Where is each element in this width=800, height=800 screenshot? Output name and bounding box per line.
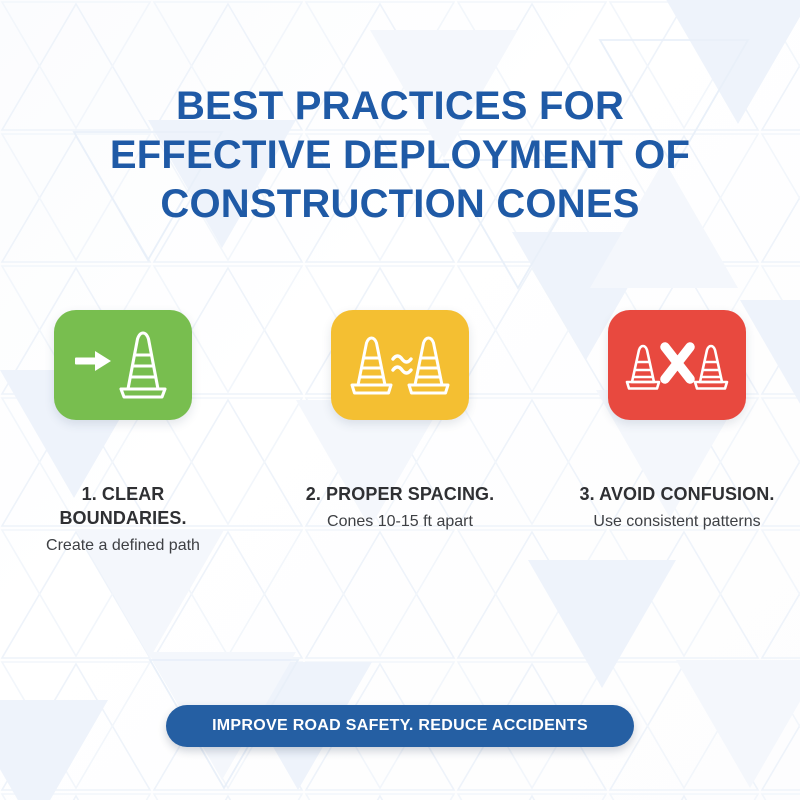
title-line-1: BEST PRACTICES FOR (0, 82, 800, 131)
two-cones-spacing-icon (348, 329, 452, 401)
wave-spacing-icon (393, 356, 411, 373)
icon-tile-proper-spacing (331, 310, 469, 420)
practice-card-3: 3. AVOID CONFUSION. Use consistent patte… (575, 310, 780, 556)
traffic-cone-left-icon (627, 346, 659, 389)
caption-subtitle-1: Create a defined path (21, 535, 226, 556)
poster-title: BEST PRACTICES FOR EFFECTIVE DEPLOYMENT … (0, 82, 800, 229)
call-to-action-banner[interactable]: IMPROVE ROAD SAFETY. REDUCE ACCIDENTS (166, 705, 634, 747)
bottom-banner-wrap: IMPROVE ROAD SAFETY. REDUCE ACCIDENTS (0, 705, 800, 747)
traffic-cone-right-icon (409, 338, 448, 393)
caption-avoid-confusion: 3. AVOID CONFUSION. Use consistent patte… (580, 482, 775, 532)
title-line-2: EFFECTIVE DEPLOYMENT OF (0, 131, 800, 180)
caption-subtitle-2: Cones 10-15 ft apart (306, 511, 495, 532)
arrow-right-icon (75, 351, 111, 371)
traffic-cone-right-icon (695, 346, 727, 389)
icon-tile-clear-boundaries (54, 310, 192, 420)
traffic-cone-left-icon (352, 338, 391, 393)
caption-subtitle-3: Use consistent patterns (580, 511, 775, 532)
cones-x-cross-icon (625, 329, 729, 401)
x-cross-icon (665, 347, 690, 379)
caption-title-1: 1. CLEAR BOUNDARIES. (21, 482, 226, 530)
caption-clear-boundaries: 1. CLEAR BOUNDARIES. Create a defined pa… (21, 482, 226, 556)
caption-proper-spacing: 2. PROPER SPACING. Cones 10-15 ft apart (306, 482, 495, 532)
practice-card-2: 2. PROPER SPACING. Cones 10-15 ft apart (298, 310, 503, 556)
caption-title-3: 3. AVOID CONFUSION. (580, 482, 775, 506)
title-line-3: CONSTRUCTION CONES (0, 180, 800, 229)
practice-cards-row: 1. CLEAR BOUNDARIES. Create a defined pa… (0, 310, 800, 556)
icon-tile-avoid-confusion (608, 310, 746, 420)
traffic-cone-icon (121, 333, 165, 397)
arrow-to-cone-icon (71, 329, 175, 401)
practice-card-1: 1. CLEAR BOUNDARIES. Create a defined pa… (21, 310, 226, 556)
caption-title-2: 2. PROPER SPACING. (306, 482, 495, 506)
infographic-poster: BEST PRACTICES FOR EFFECTIVE DEPLOYMENT … (0, 0, 800, 800)
